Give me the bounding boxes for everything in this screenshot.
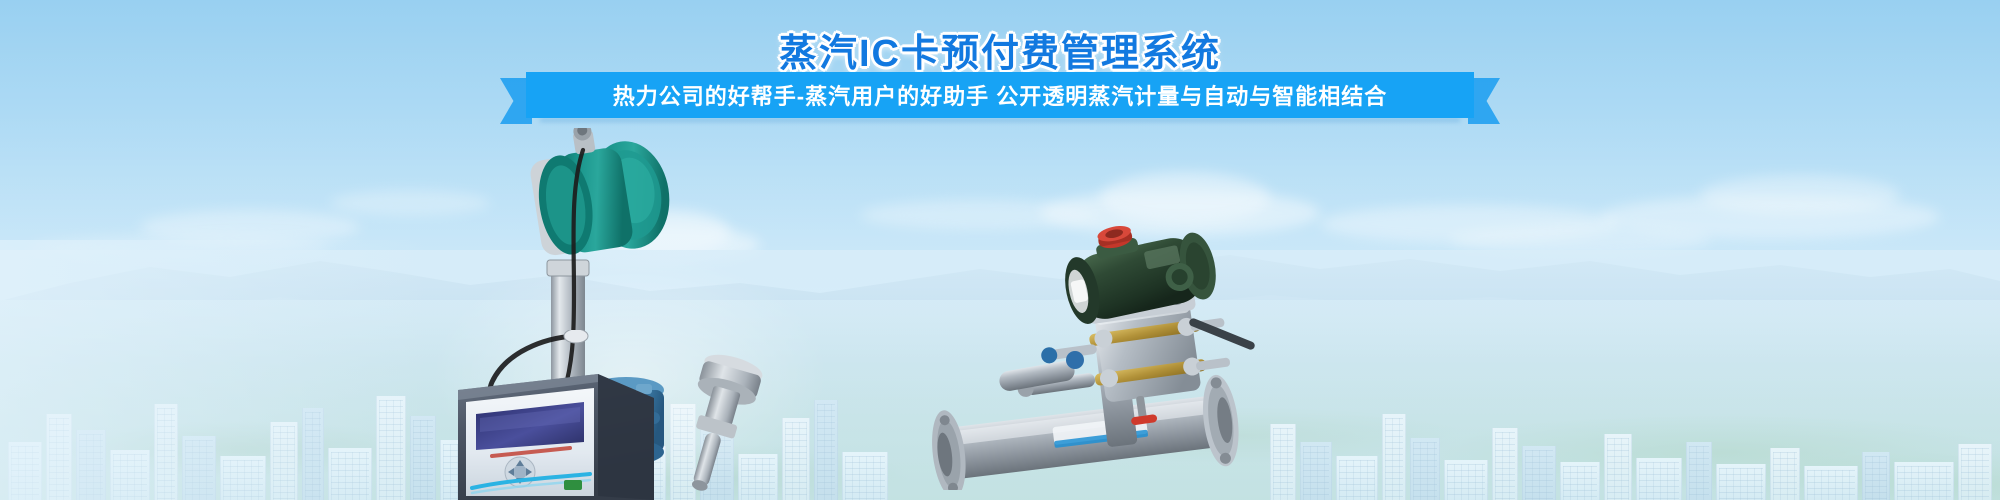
hero-banner: 蒸汽IC卡预付费管理系统 热力公司的好帮手-蒸汽用户的好助手 公开透明蒸汽计量与… xyxy=(0,0,2000,500)
banner-title-container: 蒸汽IC卡预付费管理系统 xyxy=(0,22,2000,77)
ic-card-controller-icon xyxy=(448,330,663,500)
ribbon-bar: 热力公司的好帮手-蒸汽用户的好助手 公开透明蒸汽计量与自动与智能相结合 xyxy=(526,72,1474,118)
page-title: 蒸汽IC卡预付费管理系统 xyxy=(779,22,1221,77)
banner-subtitle: 热力公司的好帮手-蒸汽用户的好助手 公开透明蒸汽计量与自动与智能相结合 xyxy=(613,79,1387,111)
ribbon-shadow xyxy=(540,118,1460,122)
subtitle-ribbon: 热力公司的好帮手-蒸汽用户的好助手 公开透明蒸汽计量与自动与智能相结合 xyxy=(500,72,1500,122)
pneumatic-valve-icon xyxy=(925,130,1265,490)
cloud-shape xyxy=(1700,175,1900,215)
